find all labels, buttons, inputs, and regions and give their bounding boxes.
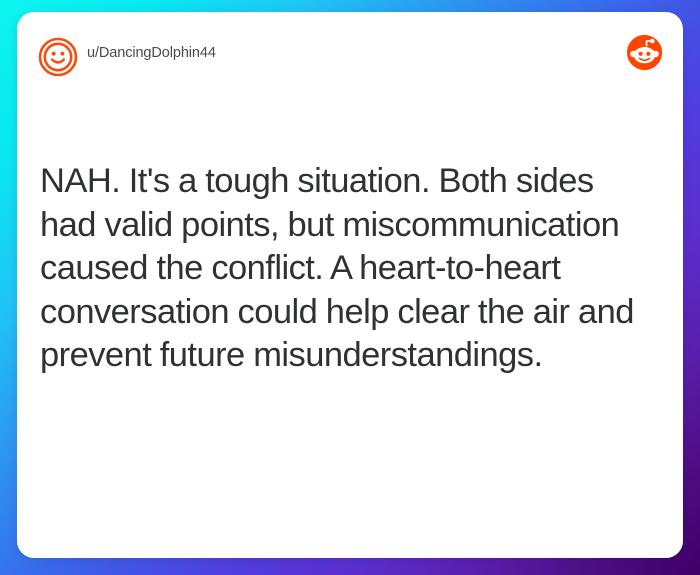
card-header: u/DancingDolphin44 — [17, 12, 683, 98]
reddit-snoo-logo-icon[interactable] — [626, 34, 663, 71]
comment-card: u/DancingDolphin44 NAH. It's a tough s — [17, 12, 683, 558]
smiley-face-avatar-icon[interactable] — [38, 37, 78, 77]
username-label[interactable]: u/DancingDolphin44 — [87, 45, 216, 61]
comment-body: NAH. It's a tough situation. Both sides … — [40, 160, 652, 378]
comment-text: NAH. It's a tough situation. Both sides … — [40, 160, 652, 378]
post-card-screenshot: { "background": { "gradient_start": "#0f… — [0, 0, 700, 575]
